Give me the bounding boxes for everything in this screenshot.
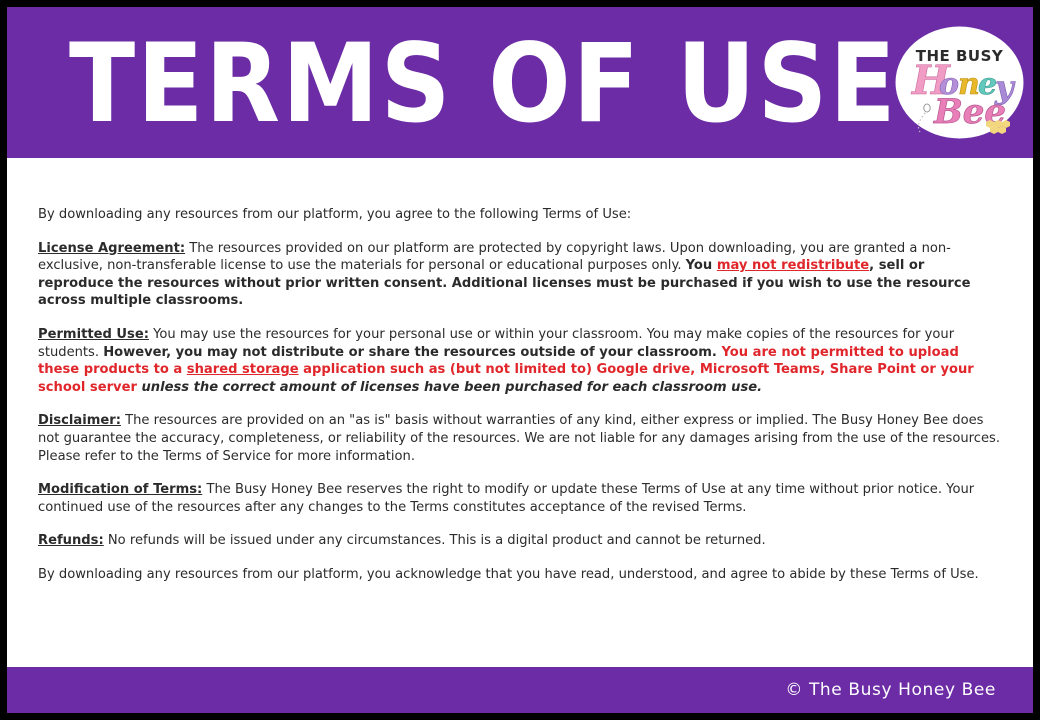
license-run-1: You [686, 258, 717, 273]
the-busy-honey-bee-logo: THE BUSY H o n e y Bee [894, 26, 1025, 139]
closing-paragraph: By downloading any resources from our pl… [38, 566, 1001, 584]
closing-text: By downloading any resources from our pl… [38, 567, 979, 582]
footer-banner: © The Busy Honey Bee [7, 667, 1033, 713]
bee-body-icon [924, 104, 930, 112]
section-heading-modification-of-terms: Modification of Terms: [38, 482, 202, 497]
permitted-run-1: However, you may not distribute or share… [103, 345, 721, 360]
page-sheet: TERMS OF USE THE BUSY H o n e y Bee [7, 7, 1033, 713]
intro-paragraph: By downloading any resources from our pl… [38, 206, 1001, 224]
section-disclaimer: Disclaimer: The resources are provided o… [38, 412, 1001, 465]
section-heading-refunds: Refunds: [38, 533, 104, 548]
intro-text: By downloading any resources from our pl… [38, 207, 631, 222]
section-permitted-use: Permitted Use: You may use the resources… [38, 326, 1001, 396]
section-modification-of-terms: Modification of Terms: The Busy Honey Be… [38, 481, 1001, 516]
refunds-run-0: No refunds will be issued under any circ… [104, 533, 766, 548]
terms-of-use-page: TERMS OF USE THE BUSY H o n e y Bee [0, 0, 1040, 720]
terms-content: By downloading any resources from our pl… [38, 158, 1001, 667]
section-heading-disclaimer: Disclaimer: [38, 413, 121, 428]
permitted-run-5: unless the correct amount of licenses ha… [141, 380, 762, 395]
section-heading-permitted-use: Permitted Use: [38, 327, 149, 342]
header-banner: TERMS OF USE THE BUSY H o n e y Bee [7, 7, 1033, 158]
page-title: TERMS OF USE [69, 11, 859, 154]
section-heading-license-agreement: License Agreement: [38, 241, 185, 256]
disclaimer-run-0: The resources are provided on an "as is"… [38, 413, 1000, 463]
footer-credit: © The Busy Honey Bee [785, 667, 996, 713]
logo-svg: THE BUSY H o n e y Bee [894, 26, 1025, 139]
permitted-run-3-shared-storage: shared storage [187, 362, 299, 377]
section-license-agreement: License Agreement: The resources provide… [38, 240, 1001, 310]
license-run-2-redistribute: may not redistribute [717, 258, 869, 273]
section-refunds: Refunds: No refunds will be issued under… [38, 532, 1001, 550]
